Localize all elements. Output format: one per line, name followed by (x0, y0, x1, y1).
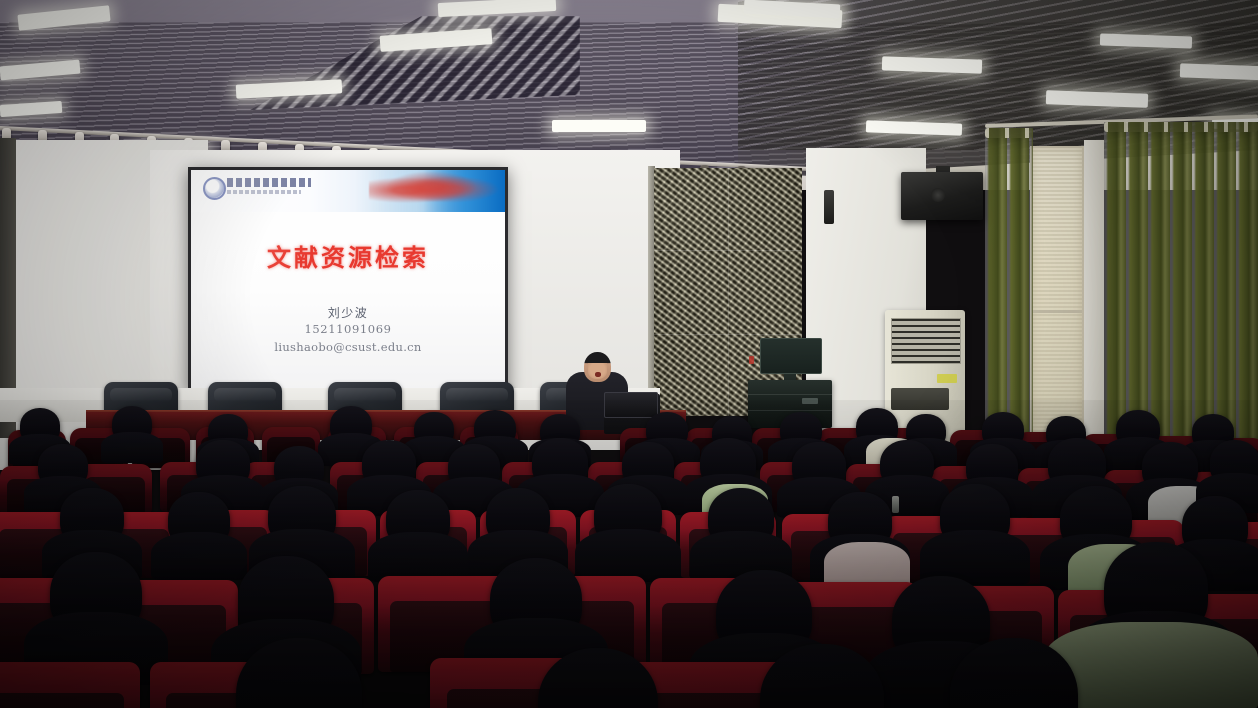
audience-head (486, 488, 550, 546)
audience-head (268, 486, 336, 546)
audience-head (1182, 496, 1248, 556)
av-cabinet-seam (748, 394, 832, 395)
water-bottle[interactable] (892, 496, 899, 513)
seated-audience (0, 400, 1258, 708)
door-jamb (1084, 140, 1104, 440)
equipment-indicator-light (749, 356, 754, 364)
audience-head (1210, 440, 1258, 486)
university-name-text (227, 178, 311, 187)
audience-head (448, 444, 500, 490)
slide-title: 文献资源检索 (191, 238, 505, 273)
ceiling-panel-light (438, 0, 557, 17)
audience-head (940, 484, 1010, 548)
presenter-mouth (595, 372, 601, 377)
audience-head (362, 440, 416, 488)
university-name-subtext (227, 190, 301, 194)
slide-presenter-email: liushaobo@csust.edu.cn (191, 340, 505, 354)
audience-head (1142, 442, 1198, 492)
audience-head (594, 484, 662, 546)
audience-head (880, 440, 934, 488)
university-emblem-icon (203, 177, 226, 200)
audience-head (982, 412, 1024, 448)
audience-head (112, 406, 152, 442)
audience-head (60, 488, 124, 546)
audience-head (700, 438, 756, 488)
av-monitor (760, 338, 822, 374)
slide-presenter-name: 刘少波 (191, 304, 505, 321)
audience-head (20, 408, 60, 444)
audience-head (238, 556, 334, 644)
stone-seam-vertical (728, 168, 729, 416)
audience-head (716, 570, 812, 658)
audience-head (474, 410, 516, 446)
wall-speaker-small (824, 190, 834, 224)
speaker-cone-icon (931, 188, 945, 202)
ac-energy-badge (937, 374, 957, 383)
audience-head (386, 490, 450, 548)
stone-feature-wall (654, 168, 802, 416)
audience-head (414, 412, 454, 446)
audience-head (1060, 486, 1132, 552)
slide-header-banner (191, 170, 505, 212)
audience-head (532, 438, 588, 488)
audience-head (274, 446, 324, 490)
audience-head (38, 444, 88, 488)
window-frame (1030, 146, 1084, 440)
curtain-hooks (1104, 122, 1258, 132)
campus-waterfront-photo (369, 170, 505, 212)
projection-screen: 文献资源检索 刘少波 15211091069 liushaobo@csust.e… (191, 170, 505, 389)
wall-speaker (901, 172, 983, 220)
audience-head (50, 552, 142, 636)
seat[interactable] (0, 662, 140, 708)
ceiling-panel-light (552, 120, 646, 132)
slide-presenter-phone: 15211091069 (191, 322, 505, 336)
ac-grille (891, 318, 961, 364)
window-mullion (1032, 310, 1082, 313)
audience-head (168, 492, 230, 548)
audience-head (330, 406, 372, 444)
audience-head (196, 440, 250, 488)
audience-head (708, 488, 774, 548)
lecture-hall-scene: 文献资源检索 刘少波 15211091069 liushaobo@csust.e… (0, 0, 1258, 708)
audience-head (1048, 438, 1106, 490)
audience-head (792, 442, 846, 490)
audience-head (490, 558, 582, 642)
audience-head (622, 442, 674, 488)
audience-head (1116, 410, 1160, 448)
curtain-hooks (985, 128, 1033, 138)
window-curtain-left[interactable] (985, 128, 1033, 444)
